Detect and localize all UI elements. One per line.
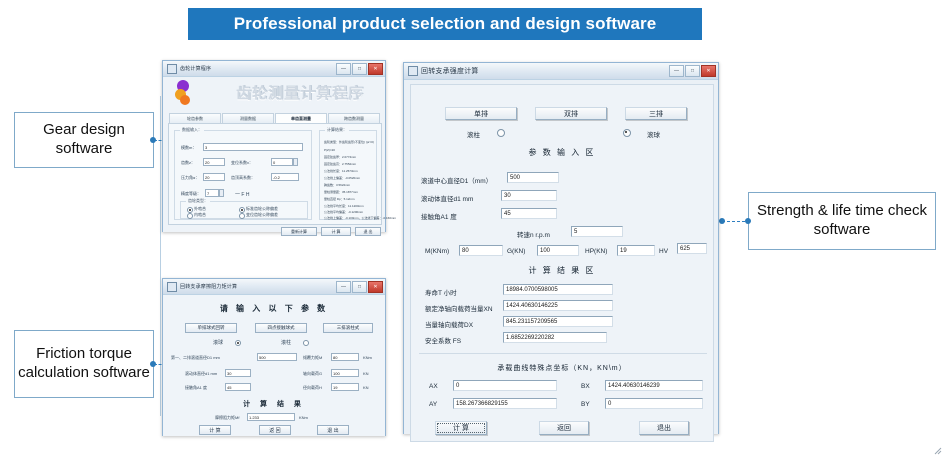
curve-field-by[interactable]: 0	[605, 398, 703, 409]
friction-window-body: 请 输 入 以 下 参 数 单排球式回转 四点接触球式 三排滚柱式 滚球 滚柱 …	[163, 295, 385, 436]
curve-label-bx: BX	[581, 383, 590, 390]
window-strength-calc[interactable]: 回转支承强度计算 — □ ✕ 单排 双排 三排 滚柱 滚球 参 数 输 入 区	[403, 62, 719, 434]
friction-back-button[interactable]: 返 回	[259, 425, 291, 435]
friction-field-input-0[interactable]: 500	[257, 353, 297, 361]
banner: Professional product selection and desig…	[188, 8, 702, 40]
friction-radio-roller[interactable]	[303, 340, 309, 346]
result-line-12: 公法线上偏差：-0.100mm，公法线下偏差：-0.160mm	[324, 216, 396, 220]
callout-gear-label: Gear design software	[15, 121, 153, 159]
connector-dot-friction-a	[150, 361, 156, 367]
friction-load-input-1[interactable]: 100	[331, 369, 359, 377]
close-icon[interactable]: ✕	[368, 63, 383, 75]
field-label-0: 模数m：	[181, 145, 196, 151]
logo-icon	[175, 80, 191, 106]
callout-friction-torque: Friction torque calculation software	[14, 330, 154, 398]
result-label-0: 寿命T 小时	[425, 287, 457, 297]
field-input-0[interactable]: 3	[203, 143, 303, 151]
friction-field-input-2[interactable]: 45	[225, 383, 251, 391]
curve-label-by: BY	[581, 401, 590, 408]
friction-result-heading: 计 算 结 果	[163, 399, 385, 409]
close-icon[interactable]: ✕	[368, 281, 383, 293]
strength-window-title: 回转支承强度计算	[421, 66, 669, 76]
friction-field-label-2: 接触角A1 度	[185, 385, 207, 391]
maximize-icon[interactable]: □	[352, 63, 367, 75]
load-label-2: HP(KN)	[585, 248, 607, 255]
curve-label-ay: AY	[429, 401, 437, 408]
minimize-icon[interactable]: —	[336, 63, 351, 75]
result-field-3: 1.6852269220282	[503, 332, 607, 343]
spinner-x[interactable]	[293, 158, 298, 166]
gear-window-title: 齿轮计算程序	[180, 65, 336, 72]
load-label-1: G(KN)	[507, 248, 525, 255]
friction-load-label-2: 径向载荷H	[303, 385, 322, 391]
strength-calc-button[interactable]: 计 算	[435, 421, 487, 435]
friction-radio-ball[interactable]	[235, 340, 241, 346]
friction-load-unit-0: KNm	[363, 355, 372, 360]
radio-modified-dev[interactable]	[239, 213, 245, 219]
divider	[419, 353, 707, 354]
field-label-3: 变位系数x：	[231, 160, 253, 166]
friction-result-input[interactable]: 1.233	[247, 413, 295, 421]
result-field-2: 845.231157209565	[503, 316, 613, 327]
tab-1[interactable]: 测量数据	[222, 113, 274, 123]
friction-result-unit: KNm	[299, 415, 308, 420]
load-field-3[interactable]: 625	[677, 243, 707, 254]
tab-0[interactable]: 轮齿参数	[169, 113, 221, 123]
result-line-6: 跨齿数：3.5622mm	[324, 183, 350, 187]
field-input-5[interactable]: 7	[205, 189, 219, 197]
minimize-icon[interactable]: —	[669, 65, 684, 77]
friction-type-button-0[interactable]: 单排球式回转	[185, 323, 237, 333]
gear-calc-button[interactable]: 计 算	[321, 227, 351, 236]
result-line-8: 量柱直径 Dp：5.12mm	[324, 197, 355, 201]
gear-header: 齿轮测量计算程序	[163, 77, 385, 111]
input-field-3[interactable]: 5	[571, 226, 623, 237]
curve-field-ay[interactable]: 158.267366829155	[453, 398, 557, 409]
curve-field-bx[interactable]: 1424.40630146239	[605, 380, 703, 391]
gear-tab-panel: 数据输入： 模数m： 3 齿数z： 20 变位系数x： 0 压力角α： 20 齿…	[168, 123, 382, 225]
load-label-3: HV	[659, 248, 668, 255]
gear-titlebar[interactable]: 齿轮计算程序 — □ ✕	[163, 61, 385, 77]
window-gear-design[interactable]: 齿轮计算程序 — □ ✕ 齿轮测量计算程序 轮齿参数 测量数据 单齿直测量 跨齿…	[162, 60, 386, 232]
input-label-1: 滚动体直径d1 mm	[421, 193, 473, 203]
gear-type-legend: 齿轮类型：	[186, 198, 210, 204]
friction-titlebar[interactable]: 回转支承摩擦阻力矩计算 — □ ✕	[163, 279, 385, 295]
callout-gear-design: Gear design software	[14, 112, 154, 168]
gear-input-legend: 数据输入：	[180, 127, 204, 133]
gear-tabs[interactable]: 轮齿参数 测量数据 单齿直测量 跨齿数测量	[169, 113, 381, 123]
load-field-2[interactable]: 19	[617, 245, 655, 256]
field-input-1[interactable]: 20	[203, 158, 225, 166]
result-line-0: 齿轮类型：外齿轮齿形(不变位) (pr=0)	[324, 140, 374, 144]
app-icon	[167, 282, 177, 292]
field-input-2[interactable]: 20	[203, 173, 225, 181]
callout-strength-life: Strength & life time check software	[748, 192, 936, 250]
maximize-icon[interactable]: □	[352, 281, 367, 293]
friction-type-button-1[interactable]: 四点接触球式	[255, 323, 307, 333]
result-line-9: 公法线平均长度：11.1200mm	[324, 204, 364, 208]
row-button-triple[interactable]: 三排	[625, 107, 687, 120]
banner-title: Professional product selection and desig…	[234, 14, 657, 34]
connector-dot-gear-a	[150, 137, 156, 143]
spinner-precision[interactable]	[219, 189, 224, 197]
radio-internal[interactable]	[187, 213, 193, 219]
friction-field-label-1: 滚动体直径d1 mm	[185, 371, 217, 377]
input-field-1[interactable]: 30	[501, 190, 557, 201]
connector-dot-strength-b	[745, 218, 751, 224]
gear-heading: 齿轮测量计算程序	[225, 82, 375, 103]
field-label-4: 齿顶高系数：	[231, 175, 255, 181]
app-icon	[408, 66, 418, 76]
gear-input-group: 数据输入： 模数m： 3 齿数z： 20 变位系数x： 0 压力角α： 20 齿…	[174, 130, 312, 220]
friction-field-label-0: 第一、二排滚道直径D1 mm	[171, 355, 220, 361]
result-line-7: 量柱测量距：35.1877mm	[324, 190, 358, 194]
friction-load-unit-1: KN	[363, 371, 369, 376]
result-label-1: 额定净轴向载荷当量XN	[425, 303, 493, 313]
radio-roller[interactable]	[497, 129, 505, 137]
friction-window-controls: — □ ✕	[336, 281, 383, 293]
strength-window-body: 单排 双排 三排 滚柱 滚球 参 数 输 入 区 滚道中心直径D1（mm） 50…	[404, 80, 718, 434]
gear-result-legend: 计算结果：	[325, 127, 349, 133]
friction-window-title: 回转支承摩擦阻力矩计算	[180, 283, 336, 290]
result-line-2: 固定弦齿厚：2.0774mm	[324, 155, 356, 159]
result-line-4: 公法线长度：11.2573mm	[324, 169, 358, 173]
friction-type-button-2[interactable]: 三排滚柱式	[323, 323, 373, 333]
radio-internal-label: 内啮合	[194, 212, 206, 218]
precision-suffix: 一 F H	[235, 191, 249, 198]
callout-friction-label: Friction torque calculation software	[15, 345, 153, 383]
input-field-0[interactable]: 500	[507, 172, 559, 183]
tab-3[interactable]: 跨齿数测量	[328, 113, 380, 123]
row-button-single[interactable]: 单排	[445, 107, 517, 120]
radio-roller-label: 滚柱	[467, 129, 480, 139]
result-label-3: 安全系数 FS	[425, 335, 461, 345]
input-label-0: 滚道中心直径D1（mm）	[421, 175, 492, 185]
friction-load-label-1: 轴向载荷G	[303, 371, 322, 377]
field-label-1: 齿数z：	[181, 160, 195, 166]
curve-field-ax[interactable]: 0	[453, 380, 557, 391]
close-icon[interactable]: ✕	[701, 65, 716, 77]
maximize-icon[interactable]: □	[685, 65, 700, 77]
friction-heading: 请 输 入 以 下 参 数	[163, 303, 385, 314]
section-result-heading: 计 算 结 果 区	[411, 265, 713, 276]
friction-load-unit-2: KN	[363, 385, 369, 390]
tab-2[interactable]: 单齿直测量	[275, 113, 327, 123]
strength-inner-panel: 单排 双排 三排 滚柱 滚球 参 数 输 入 区 滚道中心直径D1（mm） 50…	[410, 84, 714, 442]
strength-back-button[interactable]: 返回	[539, 421, 589, 435]
gear-type-group: 齿轮类型： 外啮合 标准齿轮公称偏差 内啮合 变位齿轮公称偏差	[180, 201, 308, 219]
window-friction-torque[interactable]: 回转支承摩擦阻力矩计算 — □ ✕ 请 输 入 以 下 参 数 单排球式回转 四…	[162, 278, 386, 436]
field-label-5: 精度等级：	[181, 191, 201, 197]
friction-result-label: 摩擦阻力矩Mf	[215, 415, 239, 421]
friction-radio-ball-label: 滚球	[213, 339, 223, 346]
section-curve-heading: 承载曲线特殊点坐标（KN，KN\m）	[411, 363, 713, 373]
strength-window-controls: — □ ✕	[669, 65, 716, 77]
screenshot-root: Professional product selection and desig…	[0, 0, 944, 457]
section-input-heading: 参 数 输 入 区	[411, 147, 713, 158]
gear-window-body: 齿轮测量计算程序 轮齿参数 测量数据 单齿直测量 跨齿数测量 数据输入： 模数m…	[163, 77, 385, 232]
load-label-0: M(KNm)	[425, 248, 449, 255]
result-line-3: 固定弦齿高：2.7552mm	[324, 162, 356, 166]
field-label-2: 压力角α：	[181, 175, 199, 181]
result-line-10: 公法线平均偏差：-0.1200mm	[324, 210, 363, 214]
gear-exit-button[interactable]: 退 出	[355, 227, 381, 236]
row-button-double[interactable]: 双排	[535, 107, 607, 120]
input-label-3: 转速n r.p.m	[517, 229, 550, 239]
curve-label-ax: AX	[429, 383, 438, 390]
friction-load-label-0: 倾覆力矩M	[303, 355, 322, 361]
friction-field-input-1[interactable]: 30	[225, 369, 251, 377]
result-line-1: P(Z)=20	[324, 148, 335, 152]
app-icon	[167, 64, 177, 74]
gear-result-group: 计算结果： 齿轮类型：外齿轮齿形(不变位) (pr=0) P(Z)=20 固定弦…	[319, 130, 377, 220]
result-line-5: 公法线上偏差：-0.0520mm	[324, 176, 360, 180]
minimize-icon[interactable]: —	[336, 281, 351, 293]
field-input-4[interactable]: -0.2	[271, 173, 299, 181]
radio-ball[interactable]	[623, 129, 631, 137]
input-field-2[interactable]: 45	[501, 208, 557, 219]
friction-exit-button[interactable]: 退 出	[317, 425, 349, 435]
friction-radio-roller-label: 滚柱	[281, 339, 291, 346]
field-input-3[interactable]: 0	[271, 158, 293, 166]
friction-calc-button[interactable]: 计 算	[199, 425, 231, 435]
strength-titlebar[interactable]: 回转支承强度计算 — □ ✕	[404, 63, 718, 80]
input-label-2: 接触角A1 度	[421, 211, 457, 221]
radio-ball-label: 滚球	[647, 129, 660, 139]
load-field-0[interactable]: 80	[459, 245, 503, 256]
gear-recalc-button[interactable]: 重新计算	[281, 227, 317, 236]
callout-strength-label: Strength & life time check software	[749, 202, 935, 240]
result-field-0: 18984.0700598005	[503, 284, 613, 295]
load-field-1[interactable]: 100	[537, 245, 579, 256]
result-field-1: 1424.40630146225	[503, 300, 613, 311]
strength-exit-button[interactable]: 退出	[639, 421, 689, 435]
connector-dot-strength-a	[719, 218, 725, 224]
resize-grip-icon	[934, 447, 942, 455]
radio-modified-dev-label: 变位齿轮公称偏差	[246, 212, 278, 218]
gear-window-controls: — □ ✕	[336, 63, 383, 75]
friction-load-input-2[interactable]: 19	[331, 383, 359, 391]
connector-vline-left	[160, 96, 161, 416]
result-label-2: 当量轴向载荷DX	[425, 319, 473, 329]
friction-load-input-0[interactable]: 80	[331, 353, 359, 361]
